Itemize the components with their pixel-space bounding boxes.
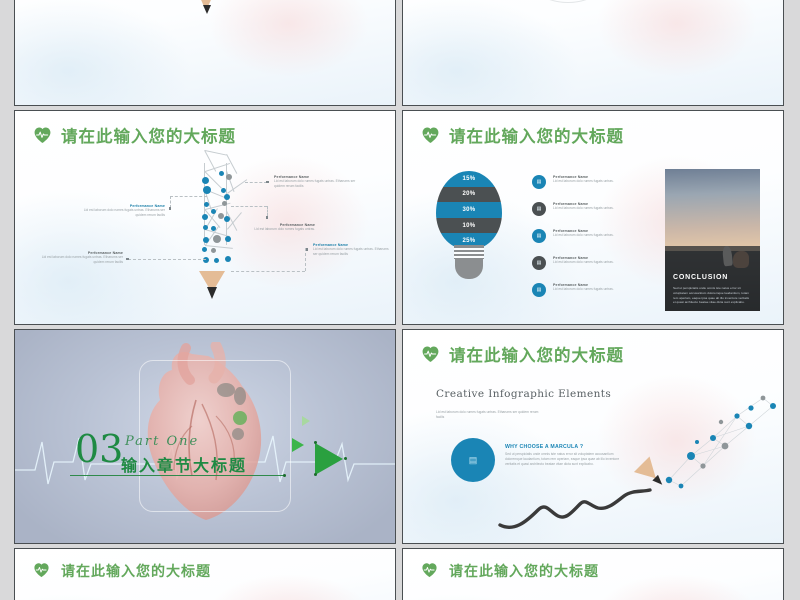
heart-pulse-icon — [33, 126, 52, 144]
list-item-body: Lid est laborum dolo rumes fugats untras… — [553, 287, 614, 292]
list-item[interactable]: ▤ Performance Name Lid est laborum dolo … — [532, 229, 682, 243]
slide-thumbnail-1[interactable]: ▤ 02 Lid est laborum dolo rumes fugats u… — [14, 0, 396, 106]
network-pencil-diagonal — [651, 386, 784, 496]
lightbulb-base — [455, 257, 483, 279]
callout-body: Lid est laborum dolo rumes fugats untras… — [237, 227, 315, 232]
slide-header: 请在此输入您的大标题 — [421, 561, 599, 581]
leader-line — [245, 182, 267, 183]
list-item-body: Lid est laborum dolo rumes fugats untras… — [553, 179, 614, 184]
leader-line — [231, 206, 267, 207]
callout-body: Lid est laborum dolo rumes fugats untras… — [313, 247, 391, 257]
slide-thumbnail-3[interactable]: 请在此输入您的大标题 — [14, 110, 396, 325]
bulb-segment: 20% — [436, 187, 502, 203]
leader-line — [267, 206, 268, 216]
doc-icon: ▤ — [532, 175, 546, 189]
pencil-tip — [203, 5, 211, 14]
list-item[interactable]: ▤ Performance Name Lid est laborum dolo … — [532, 202, 682, 216]
slide-header: 请在此输入您的大标题 — [421, 342, 624, 366]
callout-body: Lid est laborum dolo rumes fugats untras… — [77, 208, 165, 218]
slide-thumbnail-8[interactable]: 请在此输入您的大标题 — [402, 548, 784, 600]
leader-line — [170, 196, 207, 197]
lightbulb-chart: 15% 20% 30% 10% 25% — [436, 171, 502, 283]
bulb-segment: 15% — [436, 171, 502, 187]
page-title: 请在此输入您的大标题 — [449, 561, 599, 581]
doc-icon: ▤ — [469, 455, 478, 466]
slide-header: 请在此输入您的大标题 — [421, 123, 624, 147]
play-triangle-icon — [315, 443, 343, 475]
slide-background — [15, 0, 395, 105]
why-title: WHY CHOOSE A MARCULA ? — [505, 444, 623, 450]
leader-dot — [169, 207, 172, 210]
section-underline — [70, 475, 285, 476]
line-endpoint — [283, 474, 286, 477]
play-triangle-icon-tiny — [302, 416, 310, 426]
slide-thumbnail-7[interactable]: 请在此输入您的大标题 — [14, 548, 396, 600]
slide-header: 请在此输入您的大标题 — [33, 561, 211, 581]
bulb-segment: 30% — [436, 202, 502, 218]
doc-icon: ▤ — [532, 229, 546, 243]
list-item[interactable]: ▤ Performance Name Lid est laborum dolo … — [532, 175, 682, 189]
callout-body: Lid est laborum dolo rumes fugats untras… — [274, 179, 364, 189]
section-part-label: Part One — [125, 432, 199, 450]
conclusion-body: Sed ut perspiciatis unde omnis iste natu… — [673, 286, 751, 305]
heart-pulse-icon — [421, 345, 440, 363]
slide-thumbnail-6[interactable]: 请在此输入您的大标题 Creative Infographic Elements… — [402, 329, 784, 544]
heart-pulse-icon — [421, 126, 440, 144]
slide-thumbnail-4[interactable]: 请在此输入您的大标题 15% 20% 30% 10% 25% ▤ Perform… — [402, 110, 784, 325]
doc-icon: ▤ — [532, 202, 546, 216]
slide-thumbnail-5[interactable]: 03 Part One 输入章节大标题 — [14, 329, 396, 544]
leader-dot — [126, 258, 129, 261]
slide-gallery: ▤ 02 Lid est laborum dolo rumes fugats u… — [0, 0, 800, 600]
doc-icon: ▤ — [532, 283, 546, 297]
leader-line — [305, 248, 306, 271]
conclusion-title: CONCLUSION — [673, 274, 728, 281]
conclusion-photo-card[interactable]: CONCLUSION Sed ut perspiciatis unde omni… — [665, 169, 760, 311]
play-triangle-icon-small — [292, 438, 304, 452]
bulb-segment: 10% — [436, 218, 502, 234]
slide-header: 请在此输入您的大标题 — [33, 123, 236, 147]
list-item[interactable]: ▤ Performance Name Lid est laborum dolo … — [532, 283, 682, 297]
list-item[interactable]: ▤ Performance Name Lid est laborum dolo … — [532, 256, 682, 270]
section-cn-title: 输入章节大标题 — [121, 452, 247, 476]
lightbulb-glass: 15% 20% 30% 10% 25% — [436, 171, 502, 249]
leader-dot — [266, 181, 269, 184]
section-title: Creative Infographic Elements — [436, 388, 611, 400]
page-title: 请在此输入您的大标题 — [61, 123, 236, 147]
list-item-body: Lid est laborum dolo rumes fugats untras… — [553, 260, 614, 265]
slide-background — [403, 0, 783, 105]
scribble-stroke — [498, 488, 668, 530]
slide-thumbnail-2[interactable]: EXCLUSIVE BRAND Lid est laborum dolo rum… — [402, 0, 784, 106]
doc-icon: ▤ — [532, 256, 546, 270]
callout-body: Lid est laborum dolo rumes fugats untras… — [37, 255, 123, 265]
section-subtitle: Lid est laborum dolo rumes fugats untras… — [436, 410, 544, 420]
list-item-body: Lid est laborum dolo rumes fugats untras… — [553, 206, 614, 211]
page-title: 请在此输入您的大标题 — [449, 123, 624, 147]
heart-pulse-icon — [33, 562, 52, 580]
page-title: 请在此输入您的大标题 — [61, 561, 211, 581]
feature-icon-circle[interactable]: ▤ — [451, 438, 495, 482]
page-title: 请在此输入您的大标题 — [449, 342, 624, 366]
section-number: 03 — [75, 430, 123, 468]
leader-dot — [266, 216, 269, 219]
heart-pulse-icon — [421, 562, 440, 580]
leader-line — [128, 259, 206, 260]
list-item-body: Lid est laborum dolo rumes fugats untras… — [553, 233, 614, 238]
why-body: Sed ut perspiciatis unde omnis iste natu… — [505, 452, 623, 466]
leader-line — [231, 271, 305, 272]
